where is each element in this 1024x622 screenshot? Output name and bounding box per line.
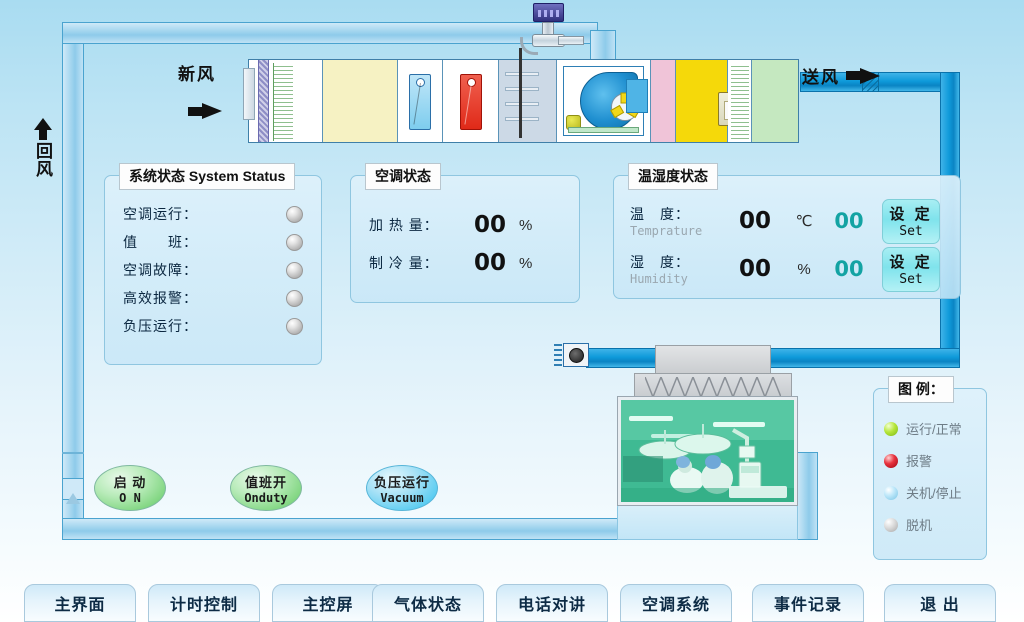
nav-tab-main-panel[interactable]: 主控屏 bbox=[272, 584, 384, 622]
nav-tab-exit[interactable]: 退 出 bbox=[884, 584, 996, 622]
system-status-title: 系统状态 System Status bbox=[119, 163, 295, 190]
ahu-fan-section bbox=[557, 60, 651, 142]
humidity-unit: % bbox=[784, 261, 824, 278]
status-row: 空调运行： bbox=[105, 200, 321, 228]
cooling-value: 00 bbox=[461, 250, 519, 276]
ahu-filter-section bbox=[323, 60, 399, 142]
onduty-button-cn: 值班开 bbox=[245, 472, 287, 491]
supply-air-label-group: 送风 bbox=[802, 63, 880, 88]
legend-dot-alarm bbox=[884, 454, 898, 468]
heating-unit: % bbox=[519, 217, 532, 234]
temperature-sublabel: Temprature bbox=[630, 224, 726, 238]
duct-joint-left bbox=[62, 452, 84, 454]
final-filter-media bbox=[731, 63, 749, 141]
fan-base bbox=[568, 127, 639, 133]
status-lamp-ac-fault bbox=[286, 262, 303, 279]
status-lamp-hepa-alarm bbox=[286, 290, 303, 307]
legend-dot-stopped bbox=[884, 486, 898, 500]
heating-label: 加 热 量： bbox=[369, 215, 461, 235]
operating-room-photo bbox=[621, 400, 794, 502]
start-button[interactable]: 启 动 O N bbox=[94, 465, 166, 511]
temperature-unit: ℃ bbox=[784, 212, 824, 230]
legend-item-alarm: 报警 bbox=[884, 451, 986, 470]
temperature-set-cn: 设 定 bbox=[889, 203, 932, 224]
air-handling-unit bbox=[248, 59, 799, 143]
start-button-en: O N bbox=[119, 491, 141, 505]
ahu-final-filter-section bbox=[728, 60, 752, 142]
valve-pipe bbox=[558, 36, 584, 45]
nav-tab-hvac-label: 空调系统 bbox=[642, 591, 710, 615]
temperature-set-en: Set bbox=[899, 224, 922, 239]
temperature-row: 温 度： Temprature 00 ℃ 00 设 定 Set bbox=[630, 198, 950, 244]
return-air-label-group: 回风 bbox=[30, 118, 55, 178]
humidity-set-en: Set bbox=[899, 272, 922, 287]
nav-tab-main[interactable]: 主界面 bbox=[24, 584, 136, 622]
status-label-onduty: 值 班： bbox=[123, 232, 198, 252]
inlet-damper bbox=[243, 68, 255, 120]
supply-air-arrow bbox=[860, 68, 880, 84]
ahu-humidifier-section bbox=[499, 60, 557, 142]
valve-elbow bbox=[520, 37, 538, 55]
nav-tab-timer-label: 计时控制 bbox=[170, 591, 238, 615]
return-air-label: 回风 bbox=[30, 142, 55, 178]
humidifier-tubes bbox=[505, 72, 539, 130]
nav-tab-gas-status[interactable]: 气体状态 bbox=[372, 584, 484, 622]
nav-tab-event-log[interactable]: 事件记录 bbox=[752, 584, 864, 622]
legend-item-offline: 脱机 bbox=[884, 515, 986, 534]
legend-dot-offline bbox=[884, 518, 898, 532]
ahu-heating-section bbox=[443, 60, 499, 142]
humidity-setpoint: 00 bbox=[824, 257, 874, 281]
temperature-humidity-panel: 温湿度状态 温 度： Temprature 00 ℃ 00 设 定 Set 湿 … bbox=[613, 175, 961, 299]
ahu-outlet-section bbox=[752, 60, 798, 142]
vacuum-button-en: Vacuum bbox=[380, 491, 423, 505]
exhaust-fan-fins bbox=[554, 344, 562, 366]
humidity-set-cn: 设 定 bbox=[889, 251, 932, 272]
status-label-hepa-alarm: 高效报警： bbox=[123, 288, 198, 308]
status-label-ac-fault: 空调故障： bbox=[123, 260, 198, 280]
fan-outlet bbox=[626, 79, 648, 113]
cooling-unit: % bbox=[519, 255, 532, 272]
nav-tab-event-log-label: 事件记录 bbox=[774, 591, 842, 615]
nav-tab-hvac[interactable]: 空调系统 bbox=[620, 584, 732, 622]
fresh-air-arrow bbox=[202, 103, 222, 119]
temperature-humidity-title: 温湿度状态 bbox=[628, 163, 718, 190]
nav-tab-intercom-label: 电话对讲 bbox=[518, 591, 586, 615]
ac-status-title: 空调状态 bbox=[365, 163, 441, 190]
status-label-ac-running: 空调运行： bbox=[123, 204, 198, 224]
supply-air-label: 送风 bbox=[802, 63, 840, 88]
status-row: 空调故障： bbox=[105, 256, 321, 284]
humidity-row: 湿 度： Humidity 00 % 00 设 定 Set bbox=[630, 246, 950, 292]
ac-status-panel: 空调状态 加 热 量： 00 % 制 冷 量： 00 % bbox=[350, 175, 580, 303]
nav-tab-intercom[interactable]: 电话对讲 bbox=[496, 584, 608, 622]
status-lamp-negative-pressure bbox=[286, 318, 303, 335]
legend-panel: 图 例： 运行/正常 报警 关机/停止 脱机 bbox=[873, 388, 987, 560]
supply-air-arrow-tail bbox=[846, 71, 860, 80]
duct-return-left bbox=[62, 22, 84, 540]
humidity-label: 湿 度： bbox=[630, 252, 726, 272]
legend-item-running: 运行/正常 bbox=[884, 419, 986, 438]
ahu-pink-section bbox=[651, 60, 677, 142]
fresh-air-arrow-tail bbox=[188, 107, 202, 116]
room-pad bbox=[617, 500, 798, 540]
legend-label-offline: 脱机 bbox=[906, 515, 932, 534]
system-status-panel: 系统状态 System Status 空调运行： 值 班： 空调故障： 高效报警… bbox=[104, 175, 322, 365]
ahu-cooling-section bbox=[398, 60, 443, 142]
nav-tab-exit-label: 退 出 bbox=[920, 591, 959, 615]
cooling-gauge bbox=[409, 74, 431, 130]
valve-actuator bbox=[533, 3, 564, 22]
temperature-value: 00 bbox=[726, 208, 784, 234]
heating-gauge bbox=[460, 74, 482, 130]
nav-tab-timer[interactable]: 计时控制 bbox=[148, 584, 260, 622]
temperature-setpoint: 00 bbox=[824, 209, 874, 233]
status-row: 负压运行： bbox=[105, 312, 321, 340]
duct-top-stub bbox=[590, 30, 616, 62]
duct-damper-left bbox=[62, 478, 84, 500]
return-air-arrow-tail bbox=[39, 130, 47, 140]
cooling-label: 制 冷 量： bbox=[369, 253, 461, 273]
start-button-cn: 启 动 bbox=[114, 472, 147, 491]
humidity-set-button[interactable]: 设 定 Set bbox=[882, 247, 940, 292]
ahu-yellow-section bbox=[676, 60, 728, 142]
exhaust-fan-icon bbox=[563, 343, 589, 367]
ac-status-row-cooling: 制 冷 量： 00 % bbox=[369, 244, 579, 282]
status-lamp-onduty bbox=[286, 234, 303, 251]
fresh-air-label-group: 新风 bbox=[178, 60, 222, 119]
valve-drop-rod bbox=[519, 48, 522, 138]
duct-top bbox=[62, 22, 598, 44]
ahu-inlet-section bbox=[249, 60, 323, 142]
heat-recovery-coil bbox=[273, 63, 293, 141]
humidity-value: 00 bbox=[726, 256, 784, 282]
legend-label-alarm: 报警 bbox=[906, 451, 932, 470]
pre-filter bbox=[258, 60, 269, 142]
legend-dot-running bbox=[884, 422, 898, 436]
legend-label-stopped: 关机/停止 bbox=[906, 483, 962, 502]
duct-bottom-riser bbox=[796, 452, 818, 540]
return-air-arrow bbox=[34, 118, 52, 130]
status-row: 高效报警： bbox=[105, 284, 321, 312]
nav-tab-main-panel-label: 主控屏 bbox=[302, 591, 353, 615]
nav-tab-main-label: 主界面 bbox=[54, 591, 105, 615]
vacuum-button-cn: 负压运行 bbox=[374, 472, 430, 491]
humidity-sublabel: Humidity bbox=[630, 272, 726, 286]
vacuum-button[interactable]: 负压运行 Vacuum bbox=[366, 465, 438, 511]
onduty-button[interactable]: 值班开 Onduty bbox=[230, 465, 302, 511]
temperature-label: 温 度： bbox=[630, 204, 726, 224]
nav-tab-gas-status-label: 气体状态 bbox=[394, 591, 462, 615]
legend-item-stopped: 关机/停止 bbox=[884, 483, 986, 502]
fresh-air-label: 新风 bbox=[178, 60, 222, 85]
onduty-button-en: Onduty bbox=[244, 491, 287, 505]
ac-status-row-heating: 加 热 量： 00 % bbox=[369, 206, 579, 244]
temperature-set-button[interactable]: 设 定 Set bbox=[882, 199, 940, 244]
legend-label-running: 运行/正常 bbox=[906, 419, 962, 438]
bottom-navbar: 主界面 计时控制 主控屏 气体状态 电话对讲 空调系统 事件记录 退 出 bbox=[0, 582, 1024, 622]
status-label-negative-pressure: 负压运行： bbox=[123, 316, 198, 336]
legend-title: 图 例： bbox=[888, 376, 954, 403]
status-row: 值 班： bbox=[105, 228, 321, 256]
status-lamp-ac-running bbox=[286, 206, 303, 223]
heating-value: 00 bbox=[461, 212, 519, 238]
